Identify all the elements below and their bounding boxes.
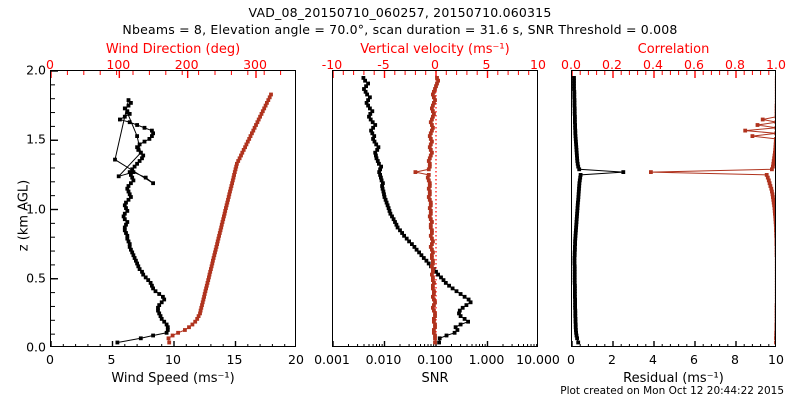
panel1-bottom-axis-ticklabels: 05101520 bbox=[50, 352, 296, 366]
panel3-bottom-tick-label: 10 bbox=[768, 352, 784, 367]
panel3-bottom-tick-label: 4 bbox=[649, 352, 657, 367]
panel3-bottom-tick-label: 2 bbox=[608, 352, 616, 367]
panel2-plot-area bbox=[333, 71, 537, 346]
panel1-bottom-tick-label: 0 bbox=[46, 352, 54, 367]
panel3-bottom-tick-label: 8 bbox=[731, 352, 739, 367]
panel2-top-axis-title: Vertical velocity (ms⁻¹) bbox=[332, 42, 538, 57]
panel2-bottom-tick-label: 1.000 bbox=[469, 352, 505, 367]
y-axis-tick-label: 1.5 bbox=[26, 132, 46, 147]
figure-title-line-1: VAD_08_20150710_060257, 20150710.060315 bbox=[0, 5, 800, 20]
panel2-bottom-axis-title: SNR bbox=[332, 371, 538, 386]
panel-snr bbox=[332, 70, 538, 347]
panel3-top-axis-ticklabels: 0.00.20.40.60.81.0 bbox=[571, 57, 776, 70]
panel1-top-axis-title: Wind Direction (deg) bbox=[50, 42, 296, 57]
vad-plot-figure: VAD_08_20150710_060257, 20150710.060315 … bbox=[0, 0, 800, 400]
panel3-top-axis-title: Correlation bbox=[571, 42, 776, 57]
panel1-plot-area bbox=[51, 71, 295, 346]
panel3-bottom-axis-title: Residual (ms⁻¹) bbox=[571, 371, 776, 386]
panel3-bottom-tick-label: 6 bbox=[690, 352, 698, 367]
panel3-plot-area bbox=[572, 71, 775, 346]
panel1-bottom-tick-label: 20 bbox=[288, 352, 304, 367]
panel2-bottom-tick-label: 10.000 bbox=[516, 352, 560, 367]
panel2-bottom-tick-label: 0.010 bbox=[366, 352, 402, 367]
panel-wind-speed bbox=[50, 70, 296, 347]
panel3-bottom-tick-label: 0 bbox=[567, 352, 575, 367]
panel1-top-axis-ticklabels: 0100200300 bbox=[50, 57, 296, 70]
panel2-top-axis-ticklabels: -10-50510 bbox=[332, 57, 538, 70]
panel-residual bbox=[571, 70, 776, 347]
panel1-bottom-axis-title: Wind Speed (ms⁻¹) bbox=[50, 371, 296, 386]
figure-title-line-2: Nbeams = 8, Elevation angle = 70.0°, sca… bbox=[0, 22, 800, 37]
y-axis-tick-label: 2.0 bbox=[26, 63, 46, 78]
panel2-bottom-tick-label: 0.001 bbox=[314, 352, 350, 367]
panel1-bottom-tick-label: 15 bbox=[227, 352, 243, 367]
panel1-bottom-tick-label: 10 bbox=[165, 352, 181, 367]
panel3-bottom-axis-ticklabels: 0246810 bbox=[571, 352, 776, 366]
panel2-bottom-axis-ticklabels: 0.0010.0100.1001.00010.000 bbox=[332, 352, 538, 366]
panel1-bottom-tick-label: 5 bbox=[108, 352, 116, 367]
plot-created-timestamp: Plot created on Mon Oct 12 20:44:22 2015 bbox=[560, 385, 784, 397]
y-axis-title: z (km AGL) bbox=[17, 156, 32, 276]
y-axis-tick-label: 0.0 bbox=[26, 340, 46, 355]
panel2-bottom-tick-label: 0.100 bbox=[417, 352, 453, 367]
